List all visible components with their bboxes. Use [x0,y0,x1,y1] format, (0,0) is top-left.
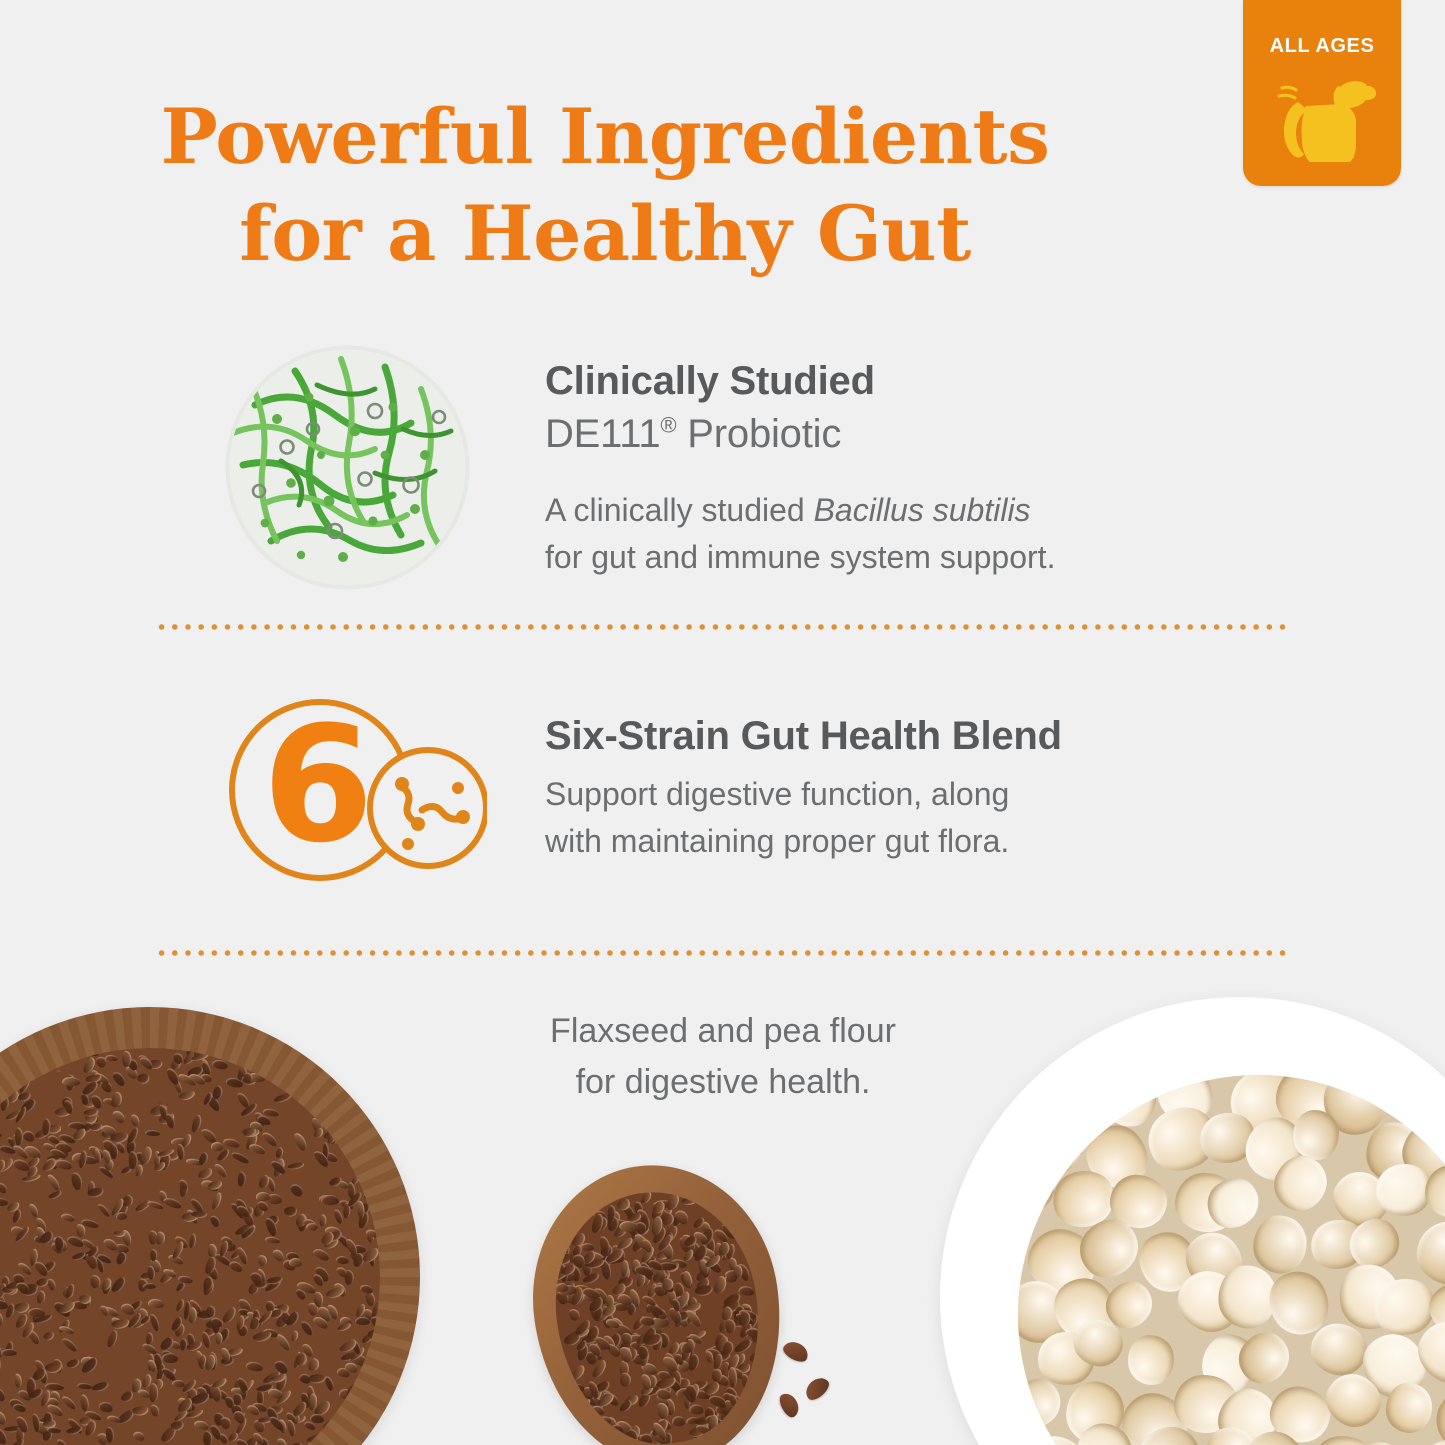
flaxseed-fill [0,1048,380,1445]
feature-1-de111: DE111 [545,412,660,456]
spoon-seed-fill [541,1179,775,1445]
caption-line-2: for digestive health. [413,1057,1033,1108]
bottom-caption: Flaxseed and pea flour for digestive hea… [413,1006,1033,1108]
bacteria-microscopy-icon [225,345,470,590]
page-title-line-2: for a Healthy Gut [0,185,1210,282]
six-strain-number: 6 [262,691,373,878]
feature-1-text: Clinically Studied DE111® Probiotic A cl… [545,355,1055,580]
feature-1-body-line-1: A clinically studied Bacillus subtilis [545,487,1055,533]
page-title: Powerful Ingredients for a Healthy Gut [0,88,1210,283]
page-title-line-1: Powerful Ingredients [0,88,1210,185]
sitting-dog-icon [1264,62,1380,172]
feature-2-body: Support digestive function, along with m… [545,771,1062,864]
infographic-page: ALL AGES [0,0,1445,1445]
feature-1-title-regular: DE111® Probiotic [545,408,1055,461]
feature-1-body-pre: A clinically studied [545,492,814,528]
caption-line-1: Flaxseed and pea flour [413,1006,1033,1057]
flaxseed-wooden-bowl-photo [0,1007,420,1445]
all-ages-badge: ALL AGES [1243,0,1401,186]
feature-1-probiotic: Probiotic [676,412,841,456]
six-strain-probiotic-icon: 6 [222,690,487,890]
chickpea-fill [1018,1075,1445,1445]
feature-clinically-studied: Clinically Studied DE111® Probiotic A cl… [0,345,1445,595]
feature-2-title: Six-Strain Gut Health Blend [545,710,1062,763]
divider-1 [155,624,1285,630]
feature-2-body-line-2: with maintaining proper gut flora. [545,818,1062,864]
feature-1-body-species: Bacillus subtilis [814,492,1031,528]
all-ages-label: ALL AGES [1243,35,1401,58]
registered-mark-icon: ® [660,413,676,438]
feature-1-body-line-2: for gut and immune system support. [545,534,1055,580]
divider-2 [155,950,1285,956]
feature-1-body: A clinically studied Bacillus subtilis f… [545,487,1055,580]
feature-2-text: Six-Strain Gut Health Blend Support dige… [545,710,1062,864]
loose-seed-2 [802,1373,833,1403]
feature-2-body-line-1: Support digestive function, along [545,771,1062,817]
feature-1-title-bold: Clinically Studied [545,355,1055,408]
feature-six-strain: 6 Six-Strain Gut Health Blend Support di… [0,690,1445,905]
flaxseed-wooden-spoon-photo [515,1149,799,1445]
spoon-bowl [515,1149,799,1445]
